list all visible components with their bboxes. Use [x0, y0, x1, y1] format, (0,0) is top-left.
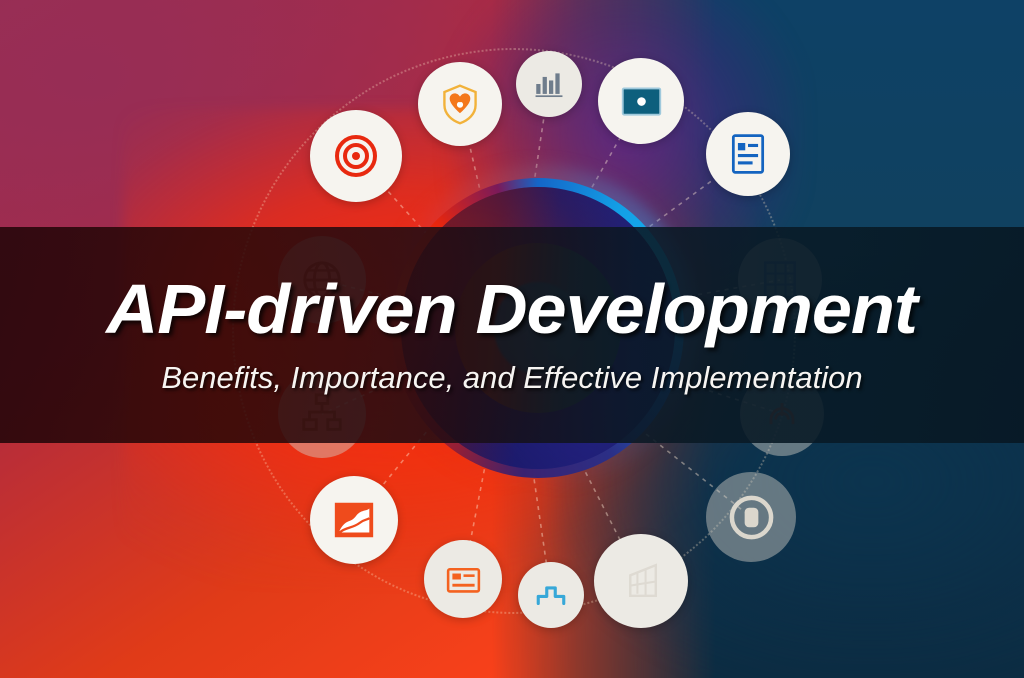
page-title: API-driven Development: [107, 274, 918, 345]
node-image-chart: [310, 476, 398, 564]
node-record: [706, 472, 796, 562]
node-target: [310, 110, 402, 202]
display-dot-icon: [619, 79, 664, 124]
node-display: [598, 58, 684, 144]
title-block: API-driven Development Benefits, Importa…: [0, 227, 1024, 443]
node-shield-heart: [418, 62, 502, 146]
shield-heart-icon: [438, 82, 482, 126]
card-list-icon: [443, 559, 484, 600]
hero-banner: API-driven Development Benefits, Importa…: [0, 0, 1024, 678]
node-card: [424, 540, 502, 618]
square-wave-icon: [534, 578, 568, 612]
target-bullseye-icon: [332, 132, 380, 180]
record-stop-icon: [728, 494, 775, 541]
node-waveform: [518, 562, 584, 628]
page-subtitle: Benefits, Importance, and Effective Impl…: [161, 360, 862, 396]
node-bar-chart: [516, 51, 582, 117]
image-chart-icon: [331, 497, 377, 543]
bar-chart-small-icon: [532, 67, 566, 101]
node-perspective: [594, 534, 688, 628]
node-document: [706, 112, 790, 196]
document-lines-icon: [726, 132, 770, 176]
perspective-grid-icon: [617, 557, 666, 606]
